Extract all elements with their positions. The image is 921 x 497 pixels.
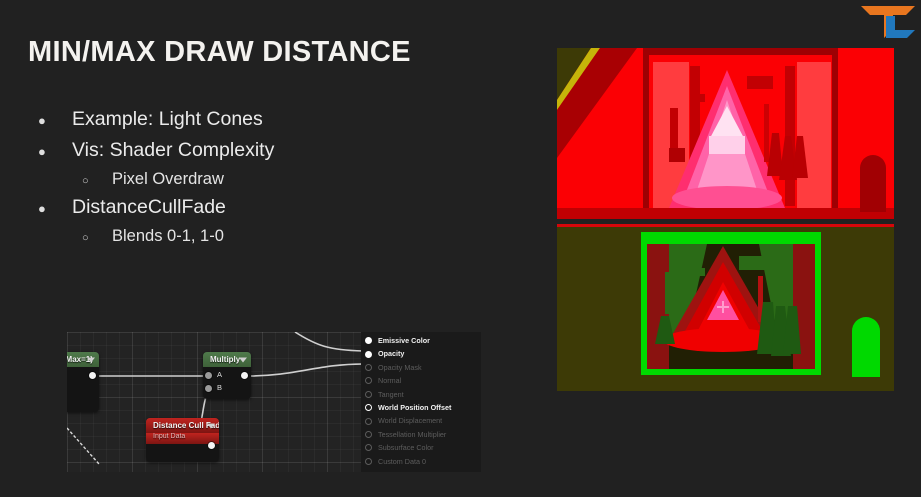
list-item: ● DistanceCullFade [30, 194, 530, 220]
material-output-row[interactable]: World Position Offset [361, 401, 481, 414]
pin-custom-data-0-icon[interactable] [365, 458, 372, 465]
node-distance-cull-fade[interactable]: Distance Cull Fade Input Data [146, 418, 219, 462]
material-output-row[interactable]: Subsurface Color [361, 441, 481, 454]
tl-logo [859, 4, 917, 40]
pin-emissive-color-label: Emissive Color [378, 336, 430, 345]
node-multiply-title: Multiply [210, 355, 240, 364]
material-output-row[interactable]: World Displacement [361, 414, 481, 427]
material-output-node[interactable]: Emissive Color Opacity Opacity Mask Norm… [361, 332, 481, 472]
screenshot-shader-complexity-green [557, 224, 894, 391]
material-output-row[interactable]: Tangent [361, 388, 481, 401]
chevron-down-icon[interactable] [87, 357, 95, 362]
bullet-text: Vis: Shader Complexity [72, 137, 274, 163]
node-distance-cull-fade-header[interactable]: Distance Cull Fade [146, 418, 219, 433]
bullet-text: Pixel Overdraw [112, 168, 224, 190]
pin-opacity-icon[interactable] [365, 351, 372, 358]
node-multiply-input-b-pin[interactable] [205, 385, 212, 392]
node-multiply-input-a-label: A [217, 370, 222, 379]
list-item: ● Example: Light Cones [30, 106, 530, 132]
screenshot-shader-complexity-red [557, 48, 894, 219]
pin-normal-icon[interactable] [365, 377, 372, 384]
logo-l-shape [886, 16, 915, 38]
material-node-graph[interactable]: ) (Max=1) Multiply A B Distance Cull Fad… [67, 332, 481, 472]
pin-subsurface-color-label: Subsurface Color [378, 443, 434, 452]
material-output-row[interactable]: Normal [361, 374, 481, 387]
bullet-marker-icon: ○ [82, 233, 112, 244]
bullet-marker-icon: ● [38, 114, 72, 127]
pin-tangent-label: Tangent [378, 390, 404, 399]
node-clamp-header[interactable]: ) (Max=1) [67, 352, 99, 367]
pin-emissive-color-icon[interactable] [365, 337, 372, 344]
bullet-text: Blends 0-1, 1-0 [112, 225, 224, 247]
node-clamp[interactable]: ) (Max=1) [67, 352, 99, 412]
pin-world-position-offset-label: World Position Offset [378, 403, 451, 412]
pin-world-displacement-icon[interactable] [365, 418, 372, 425]
bullet-marker-icon: ● [38, 202, 72, 215]
pin-opacity-label: Opacity [378, 349, 404, 358]
tl-logo-svg [859, 4, 917, 40]
material-output-row[interactable]: Opacity Mask [361, 361, 481, 374]
material-output-row[interactable]: Emissive Color [361, 334, 481, 347]
pin-tangent-icon[interactable] [365, 391, 372, 398]
chevron-down-icon[interactable] [239, 357, 247, 362]
pin-custom-data-0-label: Custom Data 0 [378, 457, 426, 466]
chevron-down-icon[interactable] [207, 423, 215, 428]
bullet-list: ● Example: Light Cones ● Vis: Shader Com… [30, 106, 530, 252]
node-multiply-input-a-pin[interactable] [205, 372, 212, 379]
bullet-marker-icon: ● [38, 145, 72, 158]
pin-opacity-mask-icon[interactable] [365, 364, 372, 371]
material-output-row[interactable]: Opacity [361, 347, 481, 360]
pin-subsurface-color-icon[interactable] [365, 444, 372, 451]
bullet-marker-icon: ○ [82, 176, 112, 187]
node-multiply-header[interactable]: Multiply [203, 352, 251, 367]
list-item: ○ Pixel Overdraw [30, 168, 530, 190]
material-output-row[interactable]: Custom Data 0 [361, 455, 481, 468]
red-viewport-svg [557, 48, 894, 219]
pin-world-position-offset-icon[interactable] [365, 404, 372, 411]
node-clamp-output-pin[interactable] [89, 372, 96, 379]
node-multiply-output-pin[interactable] [241, 372, 248, 379]
list-item: ○ Blends 0-1, 1-0 [30, 225, 530, 247]
node-multiply-input-b-label: B [217, 383, 222, 392]
pin-opacity-mask-label: Opacity Mask [378, 363, 422, 372]
page-title: MIN/MAX DRAW DISTANCE [28, 36, 411, 69]
pin-world-displacement-label: World Displacement [378, 416, 442, 425]
green-viewport-svg [557, 224, 894, 391]
bullet-text: Example: Light Cones [72, 106, 263, 132]
pin-tessellation-multiplier-label: Tessellation Multiplier [378, 430, 446, 439]
pin-normal-label: Normal [378, 376, 401, 385]
bullet-text: DistanceCullFade [72, 194, 226, 220]
list-item: ● Vis: Shader Complexity [30, 137, 530, 163]
node-distance-cull-fade-output-pin[interactable] [208, 442, 215, 449]
material-output-row[interactable]: Tessellation Multiplier [361, 428, 481, 441]
pin-tessellation-multiplier-icon[interactable] [365, 431, 372, 438]
